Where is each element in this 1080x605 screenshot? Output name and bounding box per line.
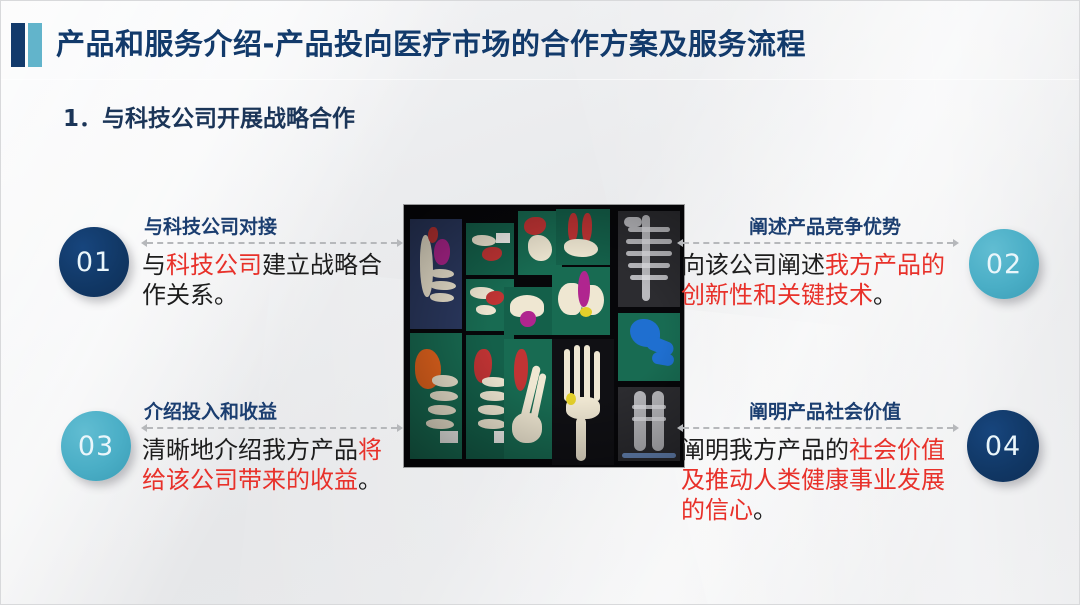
arrow-right-icon: [397, 424, 403, 432]
step-number-label: 01: [76, 247, 112, 278]
header-accent-bar-dark: [11, 23, 25, 67]
header-divider: [1, 79, 1080, 80]
step-number-circle-04[interactable]: 04: [967, 410, 1039, 482]
step-body-03: 清晰地介绍我方产品将给该公司带来的收益。: [142, 435, 390, 495]
step-connector-04: [677, 423, 959, 433]
step-heading-04: 阐明产品社会价值: [749, 397, 901, 424]
plain-text: 阐明我方产品的: [681, 436, 849, 464]
plain-text: 。: [873, 281, 897, 309]
step-connector-01: [141, 238, 403, 248]
header-accent-bar-light: [28, 23, 42, 67]
arrow-right-icon: [953, 424, 959, 432]
arrow-right-icon: [397, 239, 403, 247]
plain-text: 与: [142, 251, 166, 279]
step-number-circle-02[interactable]: 02: [969, 229, 1039, 299]
step-connector-02: [677, 238, 959, 248]
step-number-label: 03: [78, 431, 114, 462]
plain-text: 向该公司阐述: [681, 251, 825, 279]
step-number-label: 04: [985, 431, 1021, 462]
section-subtitle: 1．与科技公司开展战略合作: [63, 99, 355, 133]
medical-anatomy-collage-image: [404, 205, 684, 467]
collage-vignette: [404, 205, 684, 467]
plain-text: 。: [358, 466, 382, 494]
step-body-04: 阐明我方产品的社会价值及推动人类健康事业发展的信心。: [681, 435, 967, 526]
plain-text: 清晰地介绍我方产品: [142, 436, 358, 464]
step-connector-03: [141, 423, 403, 433]
step-body-02: 向该公司阐述我方产品的创新性和关键技术。: [681, 250, 967, 310]
page-title: 产品和服务介绍-产品投向医疗市场的合作方案及服务流程: [56, 19, 806, 69]
step-heading-01: 与科技公司对接: [144, 212, 277, 239]
slide-canvas: 产品和服务介绍-产品投向医疗市场的合作方案及服务流程 1．与科技公司开展战略合作: [0, 0, 1080, 605]
highlighted-text: 科技公司: [166, 251, 262, 279]
plain-text: 。: [753, 496, 777, 524]
step-number-circle-01[interactable]: 01: [59, 227, 129, 297]
step-number-label: 02: [986, 249, 1022, 280]
step-heading-02: 阐述产品竞争优势: [749, 212, 901, 239]
arrow-right-icon: [953, 239, 959, 247]
step-number-circle-03[interactable]: 03: [61, 411, 131, 481]
slide-header: 产品和服务介绍-产品投向医疗市场的合作方案及服务流程: [1, 19, 1080, 71]
step-body-01: 与科技公司建立战略合作关系。: [142, 250, 390, 310]
step-heading-03: 介绍投入和收益: [144, 397, 277, 424]
